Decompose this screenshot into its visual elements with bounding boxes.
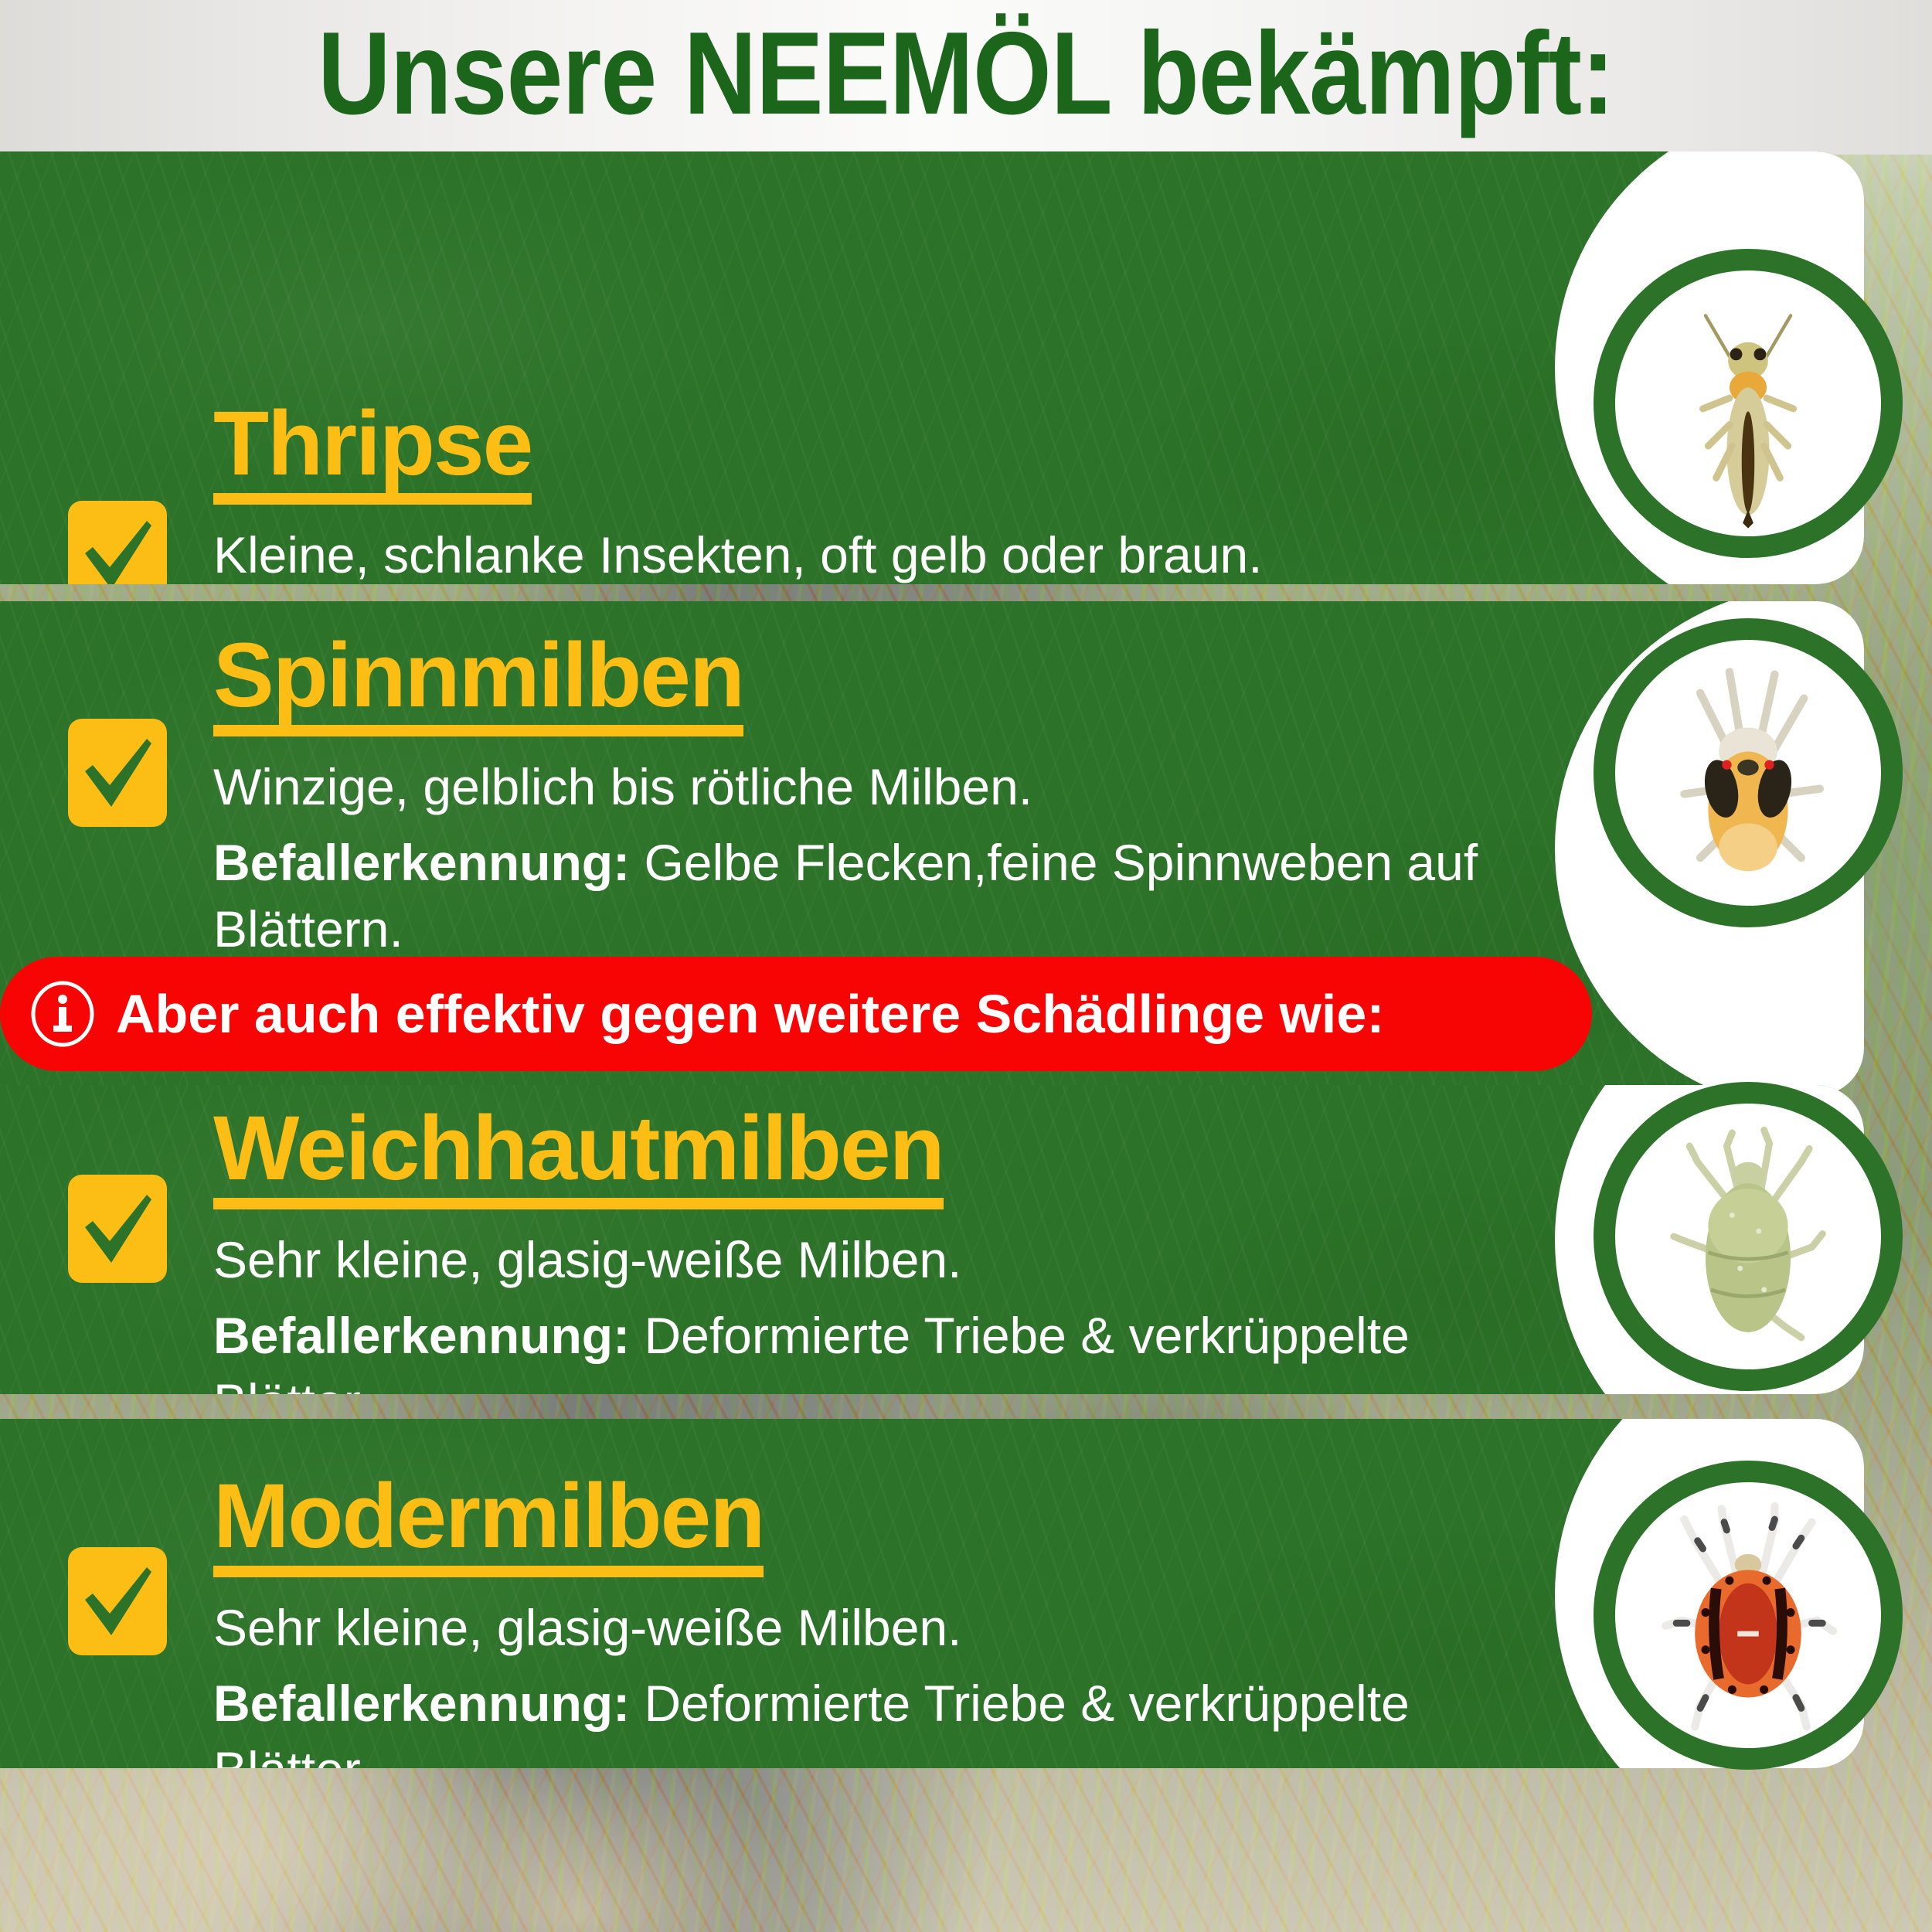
pest-name: Spinnmilben — [213, 629, 743, 736]
pest-card: Weichhautmilben Sehr kleine, glasig-weiß… — [0, 1085, 1864, 1394]
pest-name: Modermilben — [213, 1470, 764, 1577]
pest-description: Sehr kleine, glasig-weiße Milben. — [213, 1594, 1543, 1661]
notice-text: Aber auch effektiv gegen weitere Schädli… — [116, 987, 1385, 1041]
pest-name: Weichhautmilben — [213, 1102, 944, 1209]
pest-description: Winzige, gelblich bis rötliche Milben. — [213, 753, 1543, 820]
pest-description: Kleine, schlanke Insekten, oft gelb oder… — [213, 522, 1466, 584]
mould-mite-photo — [1594, 1461, 1903, 1770]
sign-label: Befallerkennung: — [213, 834, 630, 891]
spider-mite-illustration — [1615, 640, 1881, 906]
infographic-canvas: Unsere NEEMÖL bekämpft: Thripse Kleine, … — [0, 0, 1932, 1932]
pest-card: Thripse Kleine, schlanke Insekten, oft g… — [0, 151, 1864, 584]
thrips-illustration — [1615, 270, 1881, 536]
soft-mite-photo — [1594, 1082, 1903, 1391]
spider-mite-photo — [1594, 618, 1903, 927]
sign-label: Befallerkennung: — [213, 1675, 630, 1732]
header-band: Unsere NEEMÖL bekämpft: — [0, 0, 1932, 155]
checkmark-icon — [68, 1547, 167, 1655]
notice-banner: Aber auch effektiv gegen weitere Schädli… — [0, 957, 1592, 1071]
info-circle-icon — [29, 981, 96, 1047]
checkmark-icon — [68, 501, 167, 584]
checkmark-icon — [68, 1175, 167, 1283]
pest-name: Thripse — [213, 397, 532, 505]
thrips-photo — [1594, 249, 1903, 558]
pest-infestation-sign: Befallerkennung: Deformierte Triebe & ve… — [213, 1302, 1543, 1394]
checkmark-icon — [68, 719, 167, 827]
mould-mite-illustration — [1615, 1482, 1881, 1748]
pest-card: Modermilben Sehr kleine, glasig-weiße Mi… — [0, 1419, 1864, 1768]
soft-mite-illustration — [1615, 1104, 1881, 1369]
page-title: Unsere NEEMÖL bekämpft: — [135, 0, 1797, 147]
pest-description: Sehr kleine, glasig-weiße Milben. — [213, 1226, 1543, 1293]
pest-infestation-sign: Befallerkennung: Deformierte Triebe & ve… — [213, 1670, 1543, 1768]
sign-label: Befallerkennung: — [213, 1307, 630, 1364]
pest-infestation-sign: Befallerkennung: Gelbe Flecken,feine Spi… — [213, 829, 1543, 962]
